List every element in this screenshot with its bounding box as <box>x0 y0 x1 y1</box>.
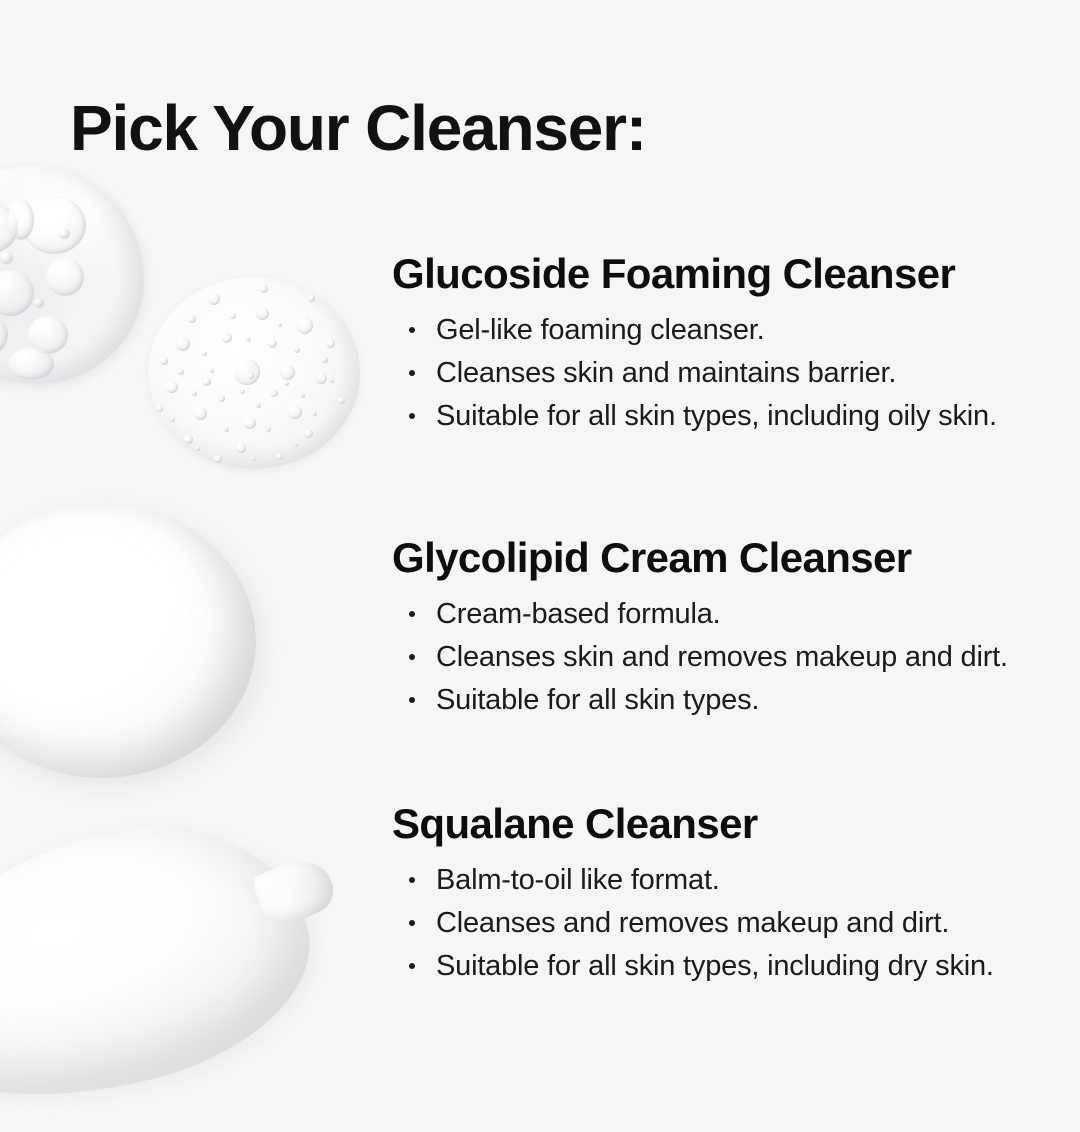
list-item: Cleanses skin and removes makeup and dir… <box>408 636 1052 679</box>
product-title: Squalane Cleanser <box>392 800 1052 847</box>
balm-swatch-texture <box>0 794 333 1132</box>
bullet-dot-icon <box>409 920 415 926</box>
list-item-label: Balm-to-oil like format. <box>436 864 720 896</box>
list-item: Cream-based formula. <box>408 593 1052 636</box>
product-title: Glycolipid Cream Cleanser <box>392 534 1052 581</box>
product-block-glycolipid-cream-cleanser: Glycolipid Cream Cleanser Cream-based fo… <box>392 534 1052 722</box>
bullet-dot-icon <box>409 370 415 376</box>
product-feature-list: Balm-to-oil like format. Cleanses and re… <box>392 859 1052 988</box>
product-feature-list: Cream-based formula. Cleanses skin and r… <box>392 593 1052 722</box>
list-item: Suitable for all skin types, including d… <box>408 945 1052 988</box>
list-item: Cleanses and removes makeup and dirt. <box>408 902 1052 945</box>
list-item: Suitable for all skin types. <box>408 679 1052 722</box>
list-item-label: Suitable for all skin types. <box>436 684 759 716</box>
foam-circle-texture <box>148 277 360 469</box>
bullet-dot-icon <box>409 877 415 883</box>
list-item: Suitable for all skin types, including o… <box>408 395 1052 438</box>
cream-sphere-texture <box>0 504 256 778</box>
list-item-label: Cream-based formula. <box>436 598 721 630</box>
list-item-label: Suitable for all skin types, including o… <box>436 400 997 432</box>
list-item-label: Cleanses skin and removes makeup and dir… <box>436 641 1008 673</box>
bullet-dot-icon <box>409 413 415 419</box>
bullet-dot-icon <box>409 654 415 660</box>
list-item-label: Gel-like foaming cleanser. <box>436 314 764 346</box>
balm-peak-detail <box>249 849 340 932</box>
list-item: Gel-like foaming cleanser. <box>408 309 1052 352</box>
list-item-label: Cleanses skin and maintains barrier. <box>436 357 896 389</box>
list-item: Cleanses skin and maintains barrier. <box>408 352 1052 395</box>
product-block-squalane-cleanser: Squalane Cleanser Balm-to-oil like forma… <box>392 800 1052 988</box>
bullet-dot-icon <box>409 697 415 703</box>
product-title: Glucoside Foaming Cleanser <box>392 250 1052 297</box>
list-item-label: Cleanses and removes makeup and dirt. <box>436 907 949 939</box>
product-feature-list: Gel-like foaming cleanser. Cleanses skin… <box>392 309 1052 438</box>
bullet-dot-icon <box>409 327 415 333</box>
list-item: Balm-to-oil like format. <box>408 859 1052 902</box>
page-title: Pick Your Cleanser: <box>70 95 646 162</box>
list-item-label: Suitable for all skin types, including d… <box>436 950 994 982</box>
bullet-dot-icon <box>409 963 415 969</box>
product-block-glucoside-foaming-cleanser: Glucoside Foaming Cleanser Gel-like foam… <box>392 250 1052 438</box>
gel-blob-texture <box>0 166 144 384</box>
cleanser-comparison-infographic: Pick Your Cleanser: Glucoside Foaming Cl… <box>0 0 1080 1080</box>
bullet-dot-icon <box>409 611 415 617</box>
